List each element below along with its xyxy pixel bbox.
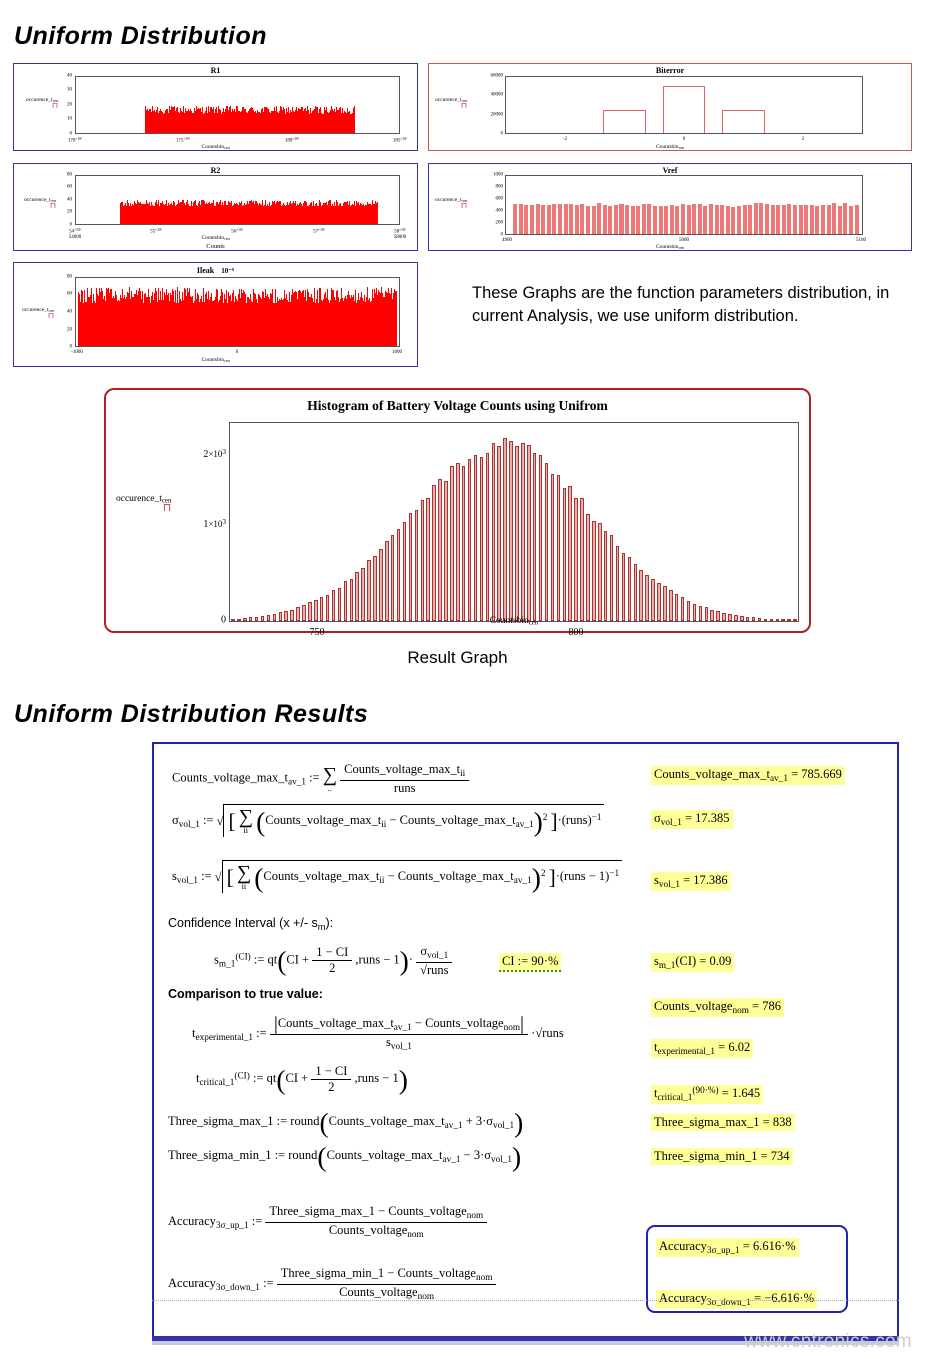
- result-ci: CI := 90·%: [499, 953, 561, 972]
- results-title: Uniform Distribution Results: [14, 700, 368, 729]
- ytick-ileak-1: 20: [54, 328, 72, 333]
- xtick-vref-1: 5000: [679, 238, 689, 243]
- formula-s: svol_1 := √ [ ∑ii (Counts_voltage_max_ti…: [172, 860, 622, 893]
- legend-swatch-ileak: ⊓: [22, 313, 54, 319]
- result-graph-caption: Result Graph: [104, 648, 811, 668]
- ytick-r1-2: 20: [54, 103, 72, 108]
- chart-xlabel-r2: Countsbincen: [14, 235, 417, 241]
- xtick-r2-3: 57×10³: [313, 228, 325, 235]
- chart-title-exp-ileak: 10⁻⁹: [221, 267, 234, 275]
- formula-mean: Counts_voltage_max_tav_1 := ∑.. Counts_v…: [172, 762, 469, 795]
- xtick-vref-0: 4900: [502, 238, 512, 243]
- xtick-r1-0: 170×10³: [68, 137, 82, 144]
- formula-three-sigma-max: Three_sigma_max_1 := round(Counts_voltag…: [168, 1114, 523, 1131]
- ytick-histogram-2: 2×103: [186, 448, 226, 460]
- site-watermark: www.cntronics.com: [744, 1331, 912, 1353]
- chart-xlabel-ileak: Countsbincen: [14, 357, 417, 363]
- ytick-ileak-0: 0: [54, 345, 72, 350]
- chart-xlabel-r1: Countsbincen: [14, 144, 417, 150]
- formula-three-sigma-min: Three_sigma_min_1 := round(Counts_voltag…: [168, 1148, 521, 1165]
- ytick-r2-2: 40: [54, 198, 72, 203]
- legend-swatch-vref: ⊓: [435, 203, 467, 209]
- legend-swatch-biterror: ⊓: [435, 103, 467, 109]
- chart-ylabel-biterror: occurence_tcen ⊓: [435, 97, 467, 109]
- chart-xlabel-biterror: Countsbincen: [429, 144, 911, 150]
- xtick-r1-1: 175×10³: [176, 137, 190, 144]
- ytick-biterror-2: 40000: [471, 93, 503, 98]
- result-counts-nom: Counts_voltagenom = 786: [651, 998, 784, 1017]
- explanatory-note: These Graphs are the function parameters…: [472, 282, 902, 328]
- chart-ylabel-histogram: occurence_tcen ⊓: [116, 494, 171, 511]
- legend-swatch-histogram: ⊓: [116, 505, 171, 511]
- ytick-vref-0: 0: [473, 233, 503, 238]
- result-s-vol: svol_1 = 17.386: [651, 872, 731, 891]
- plot-area-histogram: [229, 422, 799, 622]
- xtick-biterror-0: -2: [563, 137, 567, 142]
- bar-series-r2: [76, 176, 399, 224]
- legend-swatch-r2: ⊓: [24, 203, 56, 209]
- ytick-vref-3: 600: [473, 197, 503, 202]
- result-t-critical: tcritical_1(90·%) = 1.645: [651, 1085, 763, 1104]
- result-t-experimental: texperimental_1 = 6.02: [651, 1039, 753, 1058]
- bar-series-vref: [506, 176, 862, 234]
- chart-panel-r2: R2 occurence_tcen ⊓ 80 60 40 20 0 54×10³…: [13, 163, 418, 251]
- xtick-biterror-2: 2: [802, 137, 805, 142]
- chart-panel-vref: Vref occurence_tcen ⊓ 1000 800 600 400 2…: [428, 163, 912, 251]
- xtick-ileak-1: 0: [236, 350, 239, 355]
- ytick-r2-1: 20: [54, 210, 72, 215]
- ytick-ileak-3: 60: [54, 292, 72, 297]
- plot-area-vref: [505, 175, 863, 235]
- xtick-ileak-2: 1000: [392, 350, 402, 355]
- xtick-r2-2: 56×10³: [231, 228, 243, 235]
- xtick-r2-1: 55×10³: [150, 228, 162, 235]
- chart-xlabel-histogram: Countsbincen: [229, 616, 799, 627]
- chart-panel-biterror: Biterror occurence_tcen ⊓ 60000 40000 20…: [428, 63, 912, 151]
- page-dashed-separator: [152, 1300, 899, 1301]
- chart-ylabel-r2: occurence_tcen ⊓: [24, 197, 56, 209]
- ci-section-label: Confidence Interval (x +/- sm):: [168, 916, 333, 932]
- formula-accuracy-down: Accuracy3σ_down_1 := Three_sigma_min_1 −…: [168, 1266, 496, 1302]
- ytick-biterror-1: 20000: [471, 113, 503, 118]
- bar-series-ileak: [76, 278, 399, 346]
- ytick-biterror-3: 60000: [471, 74, 503, 79]
- chart-title-r2: R2: [14, 166, 417, 175]
- xtick-r1-3: 185×10³: [393, 137, 407, 144]
- ytick-ileak-4: 80: [54, 275, 72, 280]
- chart-title-histogram: Histogram of Battery Voltage Counts usin…: [106, 398, 809, 414]
- ytick-r2-0: 0: [54, 223, 72, 228]
- ytick-ileak-2: 40: [54, 310, 72, 315]
- ytick-vref-5: 1000: [473, 173, 503, 178]
- chart-xaxis-caption-r2: Counts: [14, 243, 417, 250]
- ytick-vref-2: 400: [473, 209, 503, 214]
- chart-title-ileak: Ileak 10⁻⁹: [14, 266, 417, 275]
- formula-t-critical: tcritical_1(CI) := qt(CI + 1 − CI2 ,runs…: [196, 1064, 408, 1095]
- xtick-r1-2: 180×10³: [285, 137, 299, 144]
- bar-series-histogram: [230, 423, 798, 621]
- formula-accuracy-up: Accuracy3σ_up_1 := Three_sigma_max_1 − C…: [168, 1204, 487, 1240]
- ytick-r2-3: 60: [54, 185, 72, 190]
- result-accuracy-up: Accuracy3σ_up_1 = 6.616·%: [656, 1238, 799, 1257]
- xtick-r2-4: 58×10³: [394, 228, 406, 235]
- page-title: Uniform Distribution: [14, 22, 267, 51]
- ytick-r1-4: 40: [54, 74, 72, 79]
- ytick-r1-0: 0: [54, 132, 72, 137]
- plot-area-r1: [75, 76, 400, 134]
- xtick-histogram-1: 800: [569, 627, 584, 638]
- chart-ylabel-vref: occurence_tcen ⊓: [435, 197, 467, 209]
- ytick-biterror-0: 0: [471, 132, 503, 137]
- chart-xlabel-vref: Countsbincen: [429, 244, 911, 250]
- bar-series-biterror: [506, 77, 862, 133]
- bar-series-r1: [76, 77, 399, 133]
- xtick-vref-2: 5100: [856, 238, 866, 243]
- chart-panel-ileak: Ileak 10⁻⁹ occurence_tcen ⊓ 80 60 40 20 …: [13, 262, 418, 367]
- ytick-histogram-0: 0: [186, 615, 226, 626]
- chart-title-r1: R1: [14, 66, 417, 75]
- formula-sigma: σvol_1 := √ [ ∑ii (Counts_voltage_max_ti…: [172, 804, 604, 837]
- ytick-r1-3: 30: [54, 88, 72, 93]
- ytick-r2-4: 80: [54, 173, 72, 178]
- xtick-biterror-1: 0: [683, 137, 686, 142]
- chart-panel-histogram: Histogram of Battery Voltage Counts usin…: [104, 388, 811, 633]
- formula-sm: sm_1(CI) := qt(CI + 1 − CI2 ,runs − 1)· …: [214, 944, 452, 977]
- chart-panel-r1: R1 occurence_tcen ⊓ 40 30 20 10 0 170×10…: [13, 63, 418, 151]
- result-three-sigma-max: Three_sigma_max_1 = 838: [651, 1114, 795, 1131]
- xtick-ileak-0: -1000: [71, 350, 83, 355]
- results-block: Counts_voltage_max_tav_1 := ∑.. Counts_v…: [152, 742, 899, 1340]
- comparison-section-label: Comparison to true value:: [168, 987, 323, 1001]
- plot-area-ileak: [75, 277, 400, 347]
- result-sigma-vol: σvol_1 = 17.385: [651, 810, 733, 829]
- ytick-r1-1: 10: [54, 117, 72, 122]
- ytick-histogram-1: 1×103: [186, 518, 226, 530]
- xtick-histogram-0: 750: [310, 627, 325, 638]
- plot-area-r2: [75, 175, 400, 225]
- chart-ylabel-ileak: occurence_tcen ⊓: [22, 307, 54, 319]
- ytick-vref-4: 800: [473, 185, 503, 190]
- result-mean: Counts_voltage_max_tav_1 = 785.669: [651, 766, 845, 785]
- ytick-vref-1: 200: [473, 221, 503, 226]
- xtick-r2-0: 54×10³: [69, 228, 81, 235]
- formula-t-experimental: texperimental_1 := |Counts_voltage_max_t…: [192, 1016, 564, 1052]
- result-sm-ci: sm_1(CI) = 0.09: [651, 953, 734, 972]
- result-three-sigma-min: Three_sigma_min_1 = 734: [651, 1148, 793, 1165]
- plot-area-biterror: [505, 76, 863, 134]
